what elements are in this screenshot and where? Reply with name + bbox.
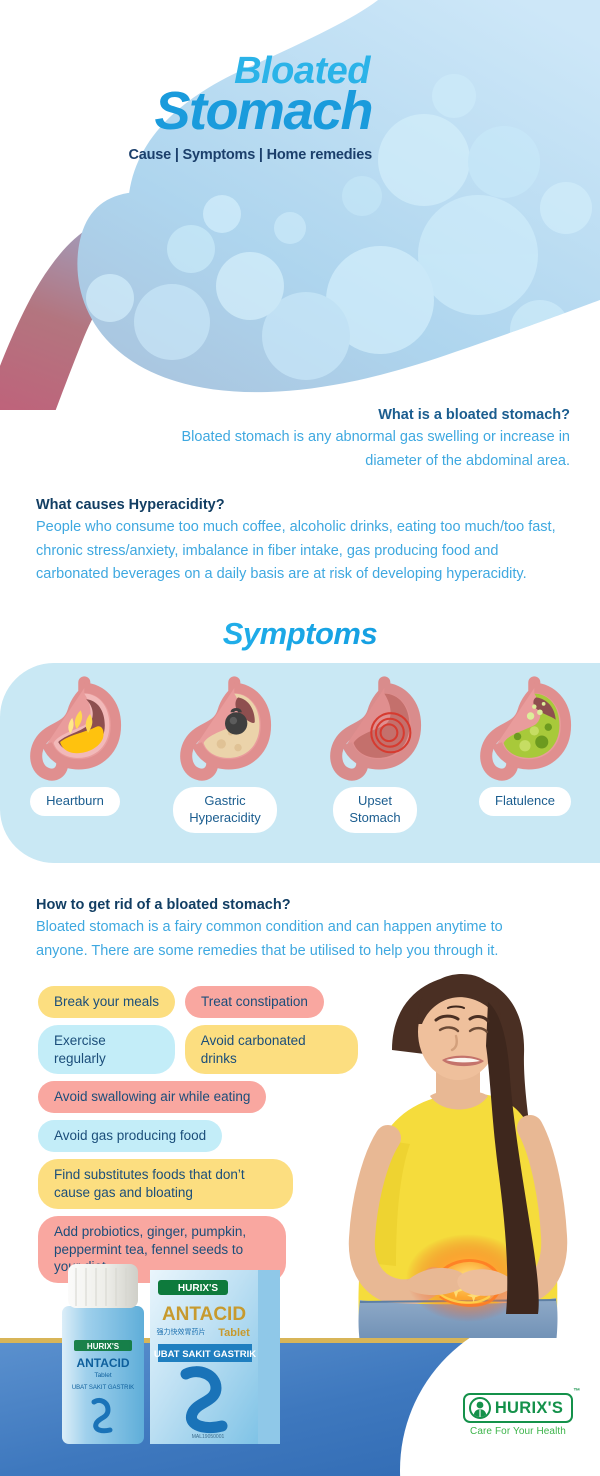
infographic-page: Bloated Stomach Cause | Symptoms | Home … — [0, 0, 600, 1476]
remedy-pill-avoid-carbonated-drinks[interactable]: Avoid carbonated drinks — [185, 1025, 358, 1075]
remedy-pill-treat-constipation[interactable]: Treat constipation — [185, 986, 324, 1018]
logo-wordmark: HURIX'S — [495, 1399, 563, 1418]
box-malay-text: UBAT SAKIT GASTRIK — [154, 1349, 256, 1360]
remedy-pill-exercise-regularly[interactable]: Exercise regularly — [38, 1025, 175, 1075]
symptom-label-heartburn: Heartburn — [30, 787, 120, 816]
symptom-item-flatulence: Flatulence — [450, 663, 600, 863]
hyperacidity-block: What causes Hyperacidity? People who con… — [36, 494, 572, 587]
remedy-pill-avoid-gas-producing-food[interactable]: Avoid gas producing food — [38, 1120, 222, 1152]
hero-title-block: Bloated Stomach Cause | Symptoms | Home … — [32, 52, 372, 163]
box-brand-text: HURIX'S — [178, 1283, 218, 1294]
remedy-pill-list: Break your meals Treat constipation Exer… — [38, 986, 358, 1290]
remedies-body: Bloated stomach is a fairy common condit… — [36, 916, 556, 963]
remedy-row-4: Avoid gas producing food — [38, 1120, 358, 1152]
remedy-row-2: Exercise regularly Avoid carbonated drin… — [38, 1025, 358, 1075]
hero-subtitle: Cause | Symptoms | Home remedies — [32, 147, 372, 163]
hyperacidity-body: People who consume too much coffee, alco… — [36, 516, 572, 586]
remedy-pill-find-substitutes[interactable]: Find substitutes foods that don’t cause … — [38, 1159, 293, 1209]
hero-section: Bloated Stomach Cause | Symptoms | Home … — [0, 0, 600, 410]
stomach-flatulence-icon — [469, 675, 581, 783]
box-product-name: ANTACID — [162, 1304, 246, 1325]
bottle-malay-text: UBAT SAKIT GASTRIK — [72, 1385, 134, 1391]
bottle-product-name: ANTACID — [76, 1356, 129, 1370]
symptom-item-upset: Upset Stomach — [300, 663, 450, 863]
remedy-row-1: Break your meals Treat constipation — [38, 986, 358, 1018]
bottle-product-form: Tablet — [94, 1372, 112, 1379]
logo-trademark: ™ — [573, 1388, 580, 1395]
logo-pharmacist-icon — [469, 1397, 491, 1419]
remedy-row-5: Find substitutes foods that don’t cause … — [38, 1159, 358, 1209]
symptom-item-heartburn: Heartburn — [0, 663, 150, 863]
symptom-item-hyperacidity: Gastric Hyperacidity — [150, 663, 300, 863]
remedy-pill-break-your-meals[interactable]: Break your meals — [38, 986, 175, 1018]
symptom-label-flatulence: Flatulence — [479, 787, 571, 816]
stomach-heartburn-icon — [19, 675, 131, 783]
what-is-bloated-block: What is a bloated stomach? Bloated stoma… — [180, 404, 570, 473]
box-chinese-text: 强力快效胃药片 — [157, 1327, 206, 1336]
symptom-label-hyperacidity: Gastric Hyperacidity — [173, 787, 277, 833]
stomach-hyperacidity-icon — [169, 675, 281, 783]
antacid-box: HURIX'S ANTACID 强力快效胃药片 Tablet UBAT SAKI… — [150, 1270, 280, 1444]
hurixs-logo: HURIX'S ™ Care For Your Health — [452, 1393, 584, 1437]
bottle-brand-text: HURIX'S — [87, 1342, 120, 1351]
box-product-form: Tablet — [218, 1327, 250, 1339]
product-images: HURIX'S ANTACID Tablet UBAT SAKIT GASTRI… — [58, 1256, 298, 1456]
remedies-heading: How to get rid of a bloated stomach? — [36, 894, 556, 916]
remedy-row-3: Avoid swallowing air while eating — [38, 1081, 358, 1113]
remedy-pill-avoid-swallowing-air[interactable]: Avoid swallowing air while eating — [38, 1081, 266, 1113]
antacid-bottle: HURIX'S ANTACID Tablet UBAT SAKIT GASTRI… — [62, 1264, 144, 1444]
remedies-header: How to get rid of a bloated stomach? Blo… — [36, 894, 556, 963]
stomach-upset-icon — [319, 675, 431, 783]
what-is-bloated-body: Bloated stomach is any abnormal gas swel… — [180, 426, 570, 473]
hero-title-line2: Stomach — [32, 86, 372, 137]
woman-photo — [318, 962, 600, 1362]
woman-holding-stomach-illustration — [318, 962, 600, 1362]
symptoms-grid: Heartburn Gastric Hyperacidity — [0, 663, 600, 863]
symptoms-title: Symptoms — [0, 616, 600, 652]
logo-tagline: Care For Your Health — [452, 1426, 584, 1437]
symptom-label-upset: Upset Stomach — [333, 787, 417, 833]
hyperacidity-heading: What causes Hyperacidity? — [36, 494, 572, 516]
what-is-bloated-heading: What is a bloated stomach? — [180, 404, 570, 426]
antacid-products: HURIX'S ANTACID Tablet UBAT SAKIT GASTRI… — [58, 1256, 298, 1456]
logo-box: HURIX'S ™ — [463, 1393, 573, 1423]
box-reg-code: MAL19050001 — [192, 1434, 225, 1440]
